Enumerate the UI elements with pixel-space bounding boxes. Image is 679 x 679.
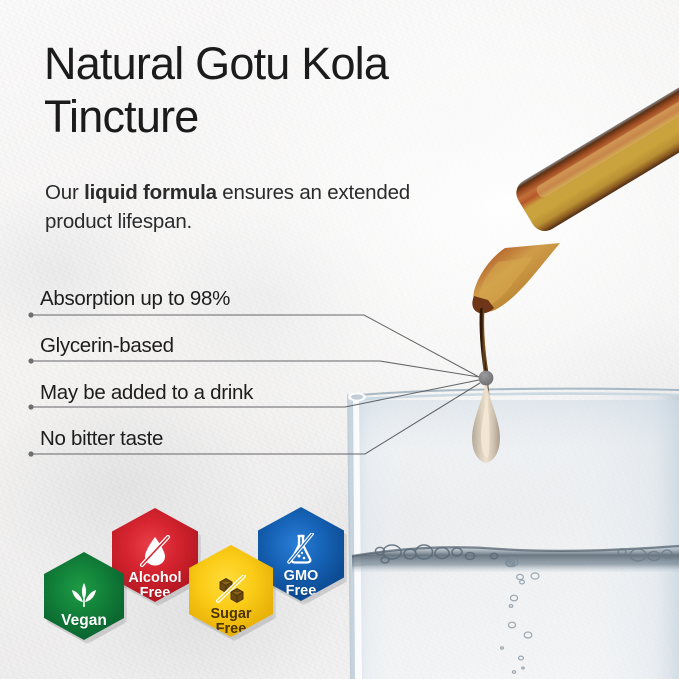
page-title: Natural Gotu Kola Tincture <box>44 38 564 143</box>
subtitle: Our liquid formula ensures an extended p… <box>45 179 445 236</box>
water-glass <box>347 389 679 679</box>
leaf-icon <box>68 581 100 613</box>
product-infographic: Natural Gotu Kola Tincture Our liquid fo… <box>0 0 679 679</box>
badge-gmo-free-label: GMO Free <box>284 569 319 599</box>
subtitle-prefix: Our <box>45 181 84 204</box>
water-volume <box>356 400 679 679</box>
callout-label-drink: May be added to a drink <box>40 381 253 405</box>
subtitle-emphasis: liquid formula <box>84 181 217 204</box>
callout-dot-3 <box>28 404 33 409</box>
callout-label-taste: No bitter taste <box>40 427 163 451</box>
no-alcohol-droplet-icon <box>138 535 172 571</box>
callout-dot-2 <box>28 358 33 363</box>
callout-dot-4 <box>28 451 33 456</box>
callout-label-glycerin: Glycerin-based <box>40 334 174 358</box>
callout-label-absorption: Absorption up to 98% <box>40 287 230 311</box>
callout-line-2 <box>33 361 479 377</box>
callout-dot-1 <box>28 312 33 317</box>
no-gmo-flask-icon <box>284 533 318 569</box>
callout-start-dots <box>28 312 33 456</box>
glass-rim-shade <box>351 394 363 399</box>
callout-hub-dot <box>479 371 494 386</box>
badge-vegan-label: Vegan <box>61 613 107 629</box>
no-sugar-cubes-icon <box>215 575 247 607</box>
